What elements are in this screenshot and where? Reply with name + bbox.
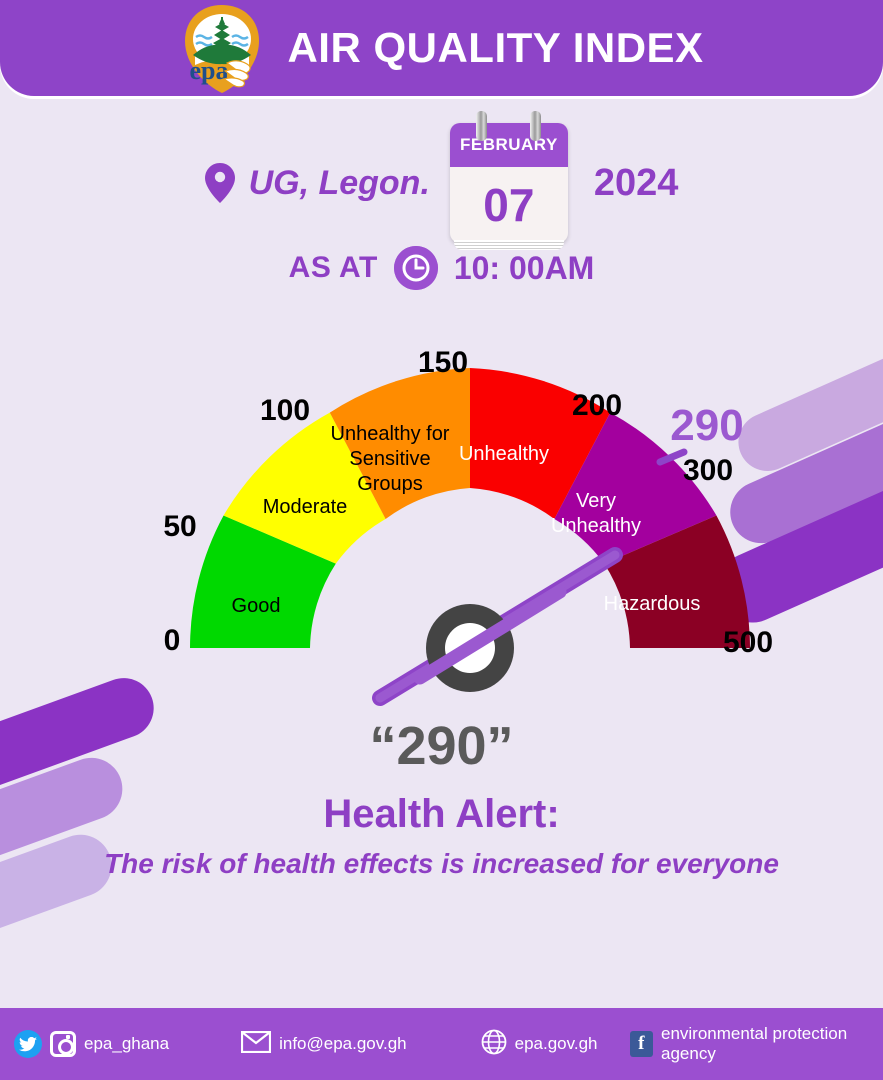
calendar-ring-left (476, 111, 487, 141)
footer-email[interactable]: info@epa.gov.gh (241, 1031, 407, 1058)
footer-social-handle[interactable]: epa_ghana (14, 1030, 169, 1058)
gauge-label-moderate: Moderate (263, 496, 348, 518)
gauge-label-unhealthy: Unhealthy (459, 443, 549, 465)
gauge-label-usg-line1: Unhealthy for (331, 423, 450, 445)
gauge-label-usg-line3: Groups (357, 473, 423, 495)
aqi-quoted-value: “290” (0, 715, 883, 777)
health-alert-title: Health Alert: (0, 792, 883, 837)
infographic-canvas: epa AIR QUALITY INDEX UG, Legon. FEBRUAR… (0, 0, 883, 1080)
clock-icon (394, 246, 438, 290)
calendar-ring-right (530, 111, 541, 141)
gauge-tick-100: 100 (260, 394, 310, 427)
gauge-label-hazardous: Hazardous (604, 593, 701, 615)
footer-website[interactable]: epa.gov.gh (481, 1029, 598, 1060)
gauge-tick-50: 50 (163, 510, 196, 543)
gauge-label-good: Good (232, 595, 281, 617)
globe-icon[interactable] (481, 1029, 507, 1060)
instagram-icon[interactable] (50, 1031, 76, 1057)
time-row: AS AT 10: 00AM (0, 246, 883, 290)
time-label: 10: 00AM (454, 250, 595, 287)
page-header: epa AIR QUALITY INDEX (0, 0, 883, 96)
facebook-icon[interactable]: f (630, 1031, 653, 1057)
gauge-label-very-unhealthy-line1: Very (576, 490, 616, 512)
footer-email-text: info@epa.gov.gh (279, 1034, 407, 1054)
footer-facebook[interactable]: f environmental protection agency (630, 1024, 883, 1064)
page-footer: epa_ghana info@epa.gov.gh epa.gov.gh f e… (0, 1008, 883, 1080)
footer-facebook-text: environmental protection agency (661, 1024, 883, 1064)
page-title: AIR QUALITY INDEX (287, 24, 703, 72)
gauge-tick-300: 300 (683, 454, 733, 487)
footer-website-text: epa.gov.gh (515, 1034, 598, 1054)
gauge-label-very-unhealthy-line2: Unhealthy (551, 515, 641, 537)
calendar-widget: FEBRUARY 07 (450, 123, 568, 243)
twitter-icon[interactable] (14, 1030, 42, 1058)
calendar-month: FEBRUARY (450, 123, 568, 167)
location-label: UG, Legon. (249, 164, 430, 203)
calendar-body: FEBRUARY 07 (450, 123, 568, 243)
logo-epa-text: epa (190, 56, 229, 85)
email-icon[interactable] (241, 1031, 271, 1058)
gauge-label-usg-line2: Sensitive (349, 448, 430, 470)
aqi-gauge: Good Moderate Unhealthy for Sensitive Gr… (0, 340, 883, 720)
gauge-tick-200: 200 (572, 389, 622, 422)
year-label: 2024 (594, 162, 679, 205)
as-at-label: AS AT (289, 251, 378, 285)
gauge-tick-150: 150 (418, 346, 468, 379)
health-alert-message: The risk of health effects is increased … (0, 848, 883, 880)
location-pin-icon (205, 163, 235, 203)
epa-logo: epa (179, 3, 265, 95)
gauge-tick-500: 500 (723, 626, 773, 659)
footer-social-handle-text: epa_ghana (84, 1034, 169, 1054)
calendar-day: 07 (450, 167, 568, 243)
gauge-tick-0: 0 (164, 624, 181, 657)
location-date-row: UG, Legon. FEBRUARY 07 2024 (0, 128, 883, 238)
gauge-value-label: 290 (670, 401, 743, 450)
